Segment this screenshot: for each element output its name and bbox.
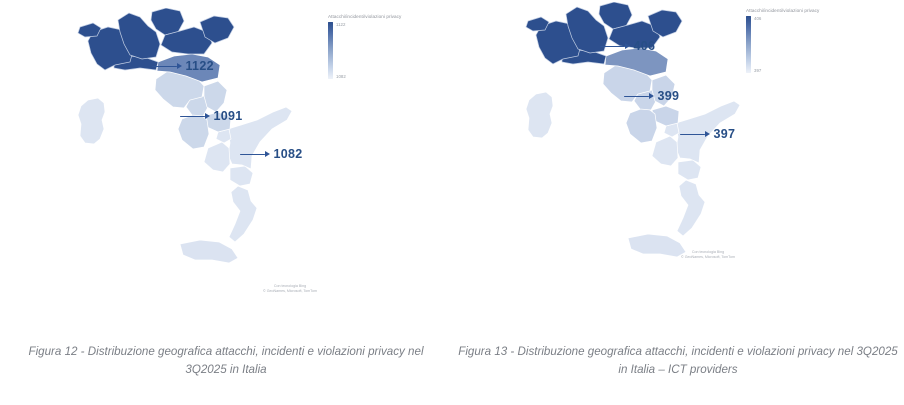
legend-title: Attacchi/incidenti/violazioni privacy <box>328 14 401 19</box>
attribution-line-2: © GeoNames, Microsoft, TomTom <box>648 255 768 260</box>
legend-gradient-bar <box>328 22 333 79</box>
callout-centro: 1091 <box>180 110 243 123</box>
region-valle-aosta[interactable] <box>526 17 549 31</box>
callout-value-centro: 1091 <box>214 110 243 123</box>
callout-nord: 1122 <box>152 60 214 73</box>
callout-arrow-centro <box>624 92 654 101</box>
callout-value-sud: 1082 <box>274 148 303 161</box>
map-italy-all-attacks[interactable]: Attacchi/incidenti/violazioni privacy 11… <box>0 0 452 320</box>
legend-min-value: 397 <box>754 68 761 73</box>
callout-value-nord: 1122 <box>186 60 214 73</box>
callout-value-nord: 406 <box>634 40 656 53</box>
callout-sud: 397 <box>680 128 735 141</box>
callout-value-centro: 399 <box>658 90 680 103</box>
legend-color-scale: Attacchi/incidenti/violazioni privacy 40… <box>746 8 819 73</box>
callout-sud: 1082 <box>240 148 303 161</box>
callout-nord: 406 <box>600 40 655 53</box>
legend-color-scale: Attacchi/incidenti/violazioni privacy 11… <box>328 14 401 79</box>
legend-gradient-bar <box>746 16 751 73</box>
region-sicilia[interactable] <box>180 240 238 263</box>
callout-arrow-sud <box>240 150 270 159</box>
region-sardegna[interactable] <box>526 92 553 138</box>
region-lazio[interactable] <box>626 107 657 143</box>
region-sardegna[interactable] <box>78 98 105 144</box>
legend-bar-wrap: 406 397 <box>746 16 819 73</box>
region-campania[interactable] <box>204 142 230 172</box>
region-campania[interactable] <box>652 136 678 166</box>
legend-max-value: 406 <box>754 16 761 21</box>
legend-title: Attacchi/incidenti/violazioni privacy <box>746 8 819 13</box>
callout-centro: 399 <box>624 90 679 103</box>
callout-arrow-nord <box>600 42 630 51</box>
legend-min-value: 1082 <box>336 74 346 79</box>
region-basilicata[interactable] <box>678 160 701 180</box>
legend-max-value: 1122 <box>336 22 345 27</box>
region-basilicata[interactable] <box>230 166 253 186</box>
figure-pair-container: Attacchi/incidenti/violazioni privacy 11… <box>0 0 904 405</box>
attribution-line-2: © GeoNames, Microsoft, TomTom <box>230 289 350 294</box>
map-italy-ict-providers[interactable]: Attacchi/incidenti/violazioni privacy 40… <box>452 0 904 320</box>
callout-arrow-nord <box>152 62 182 71</box>
callout-arrow-sud <box>680 130 710 139</box>
figure-13: Attacchi/incidenti/violazioni privacy 40… <box>452 0 904 405</box>
region-marche[interactable] <box>204 81 227 112</box>
region-calabria[interactable] <box>229 186 257 242</box>
map-attribution: Con tecnologia Bing © GeoNames, Microsof… <box>230 284 350 295</box>
region-calabria[interactable] <box>677 180 705 236</box>
callout-value-sud: 397 <box>714 128 736 141</box>
legend-bar-wrap: 1122 1082 <box>328 22 401 79</box>
callout-arrow-centro <box>180 112 210 121</box>
figure-13-caption: Figura 13 - Distribuzione geografica att… <box>452 343 904 379</box>
map-attribution: Con tecnologia Bing © GeoNames, Microsof… <box>648 250 768 261</box>
figure-12: Attacchi/incidenti/violazioni privacy 11… <box>0 0 452 405</box>
figure-12-caption: Figura 12 - Distribuzione geografica att… <box>0 343 452 379</box>
region-valle-aosta[interactable] <box>78 23 101 37</box>
